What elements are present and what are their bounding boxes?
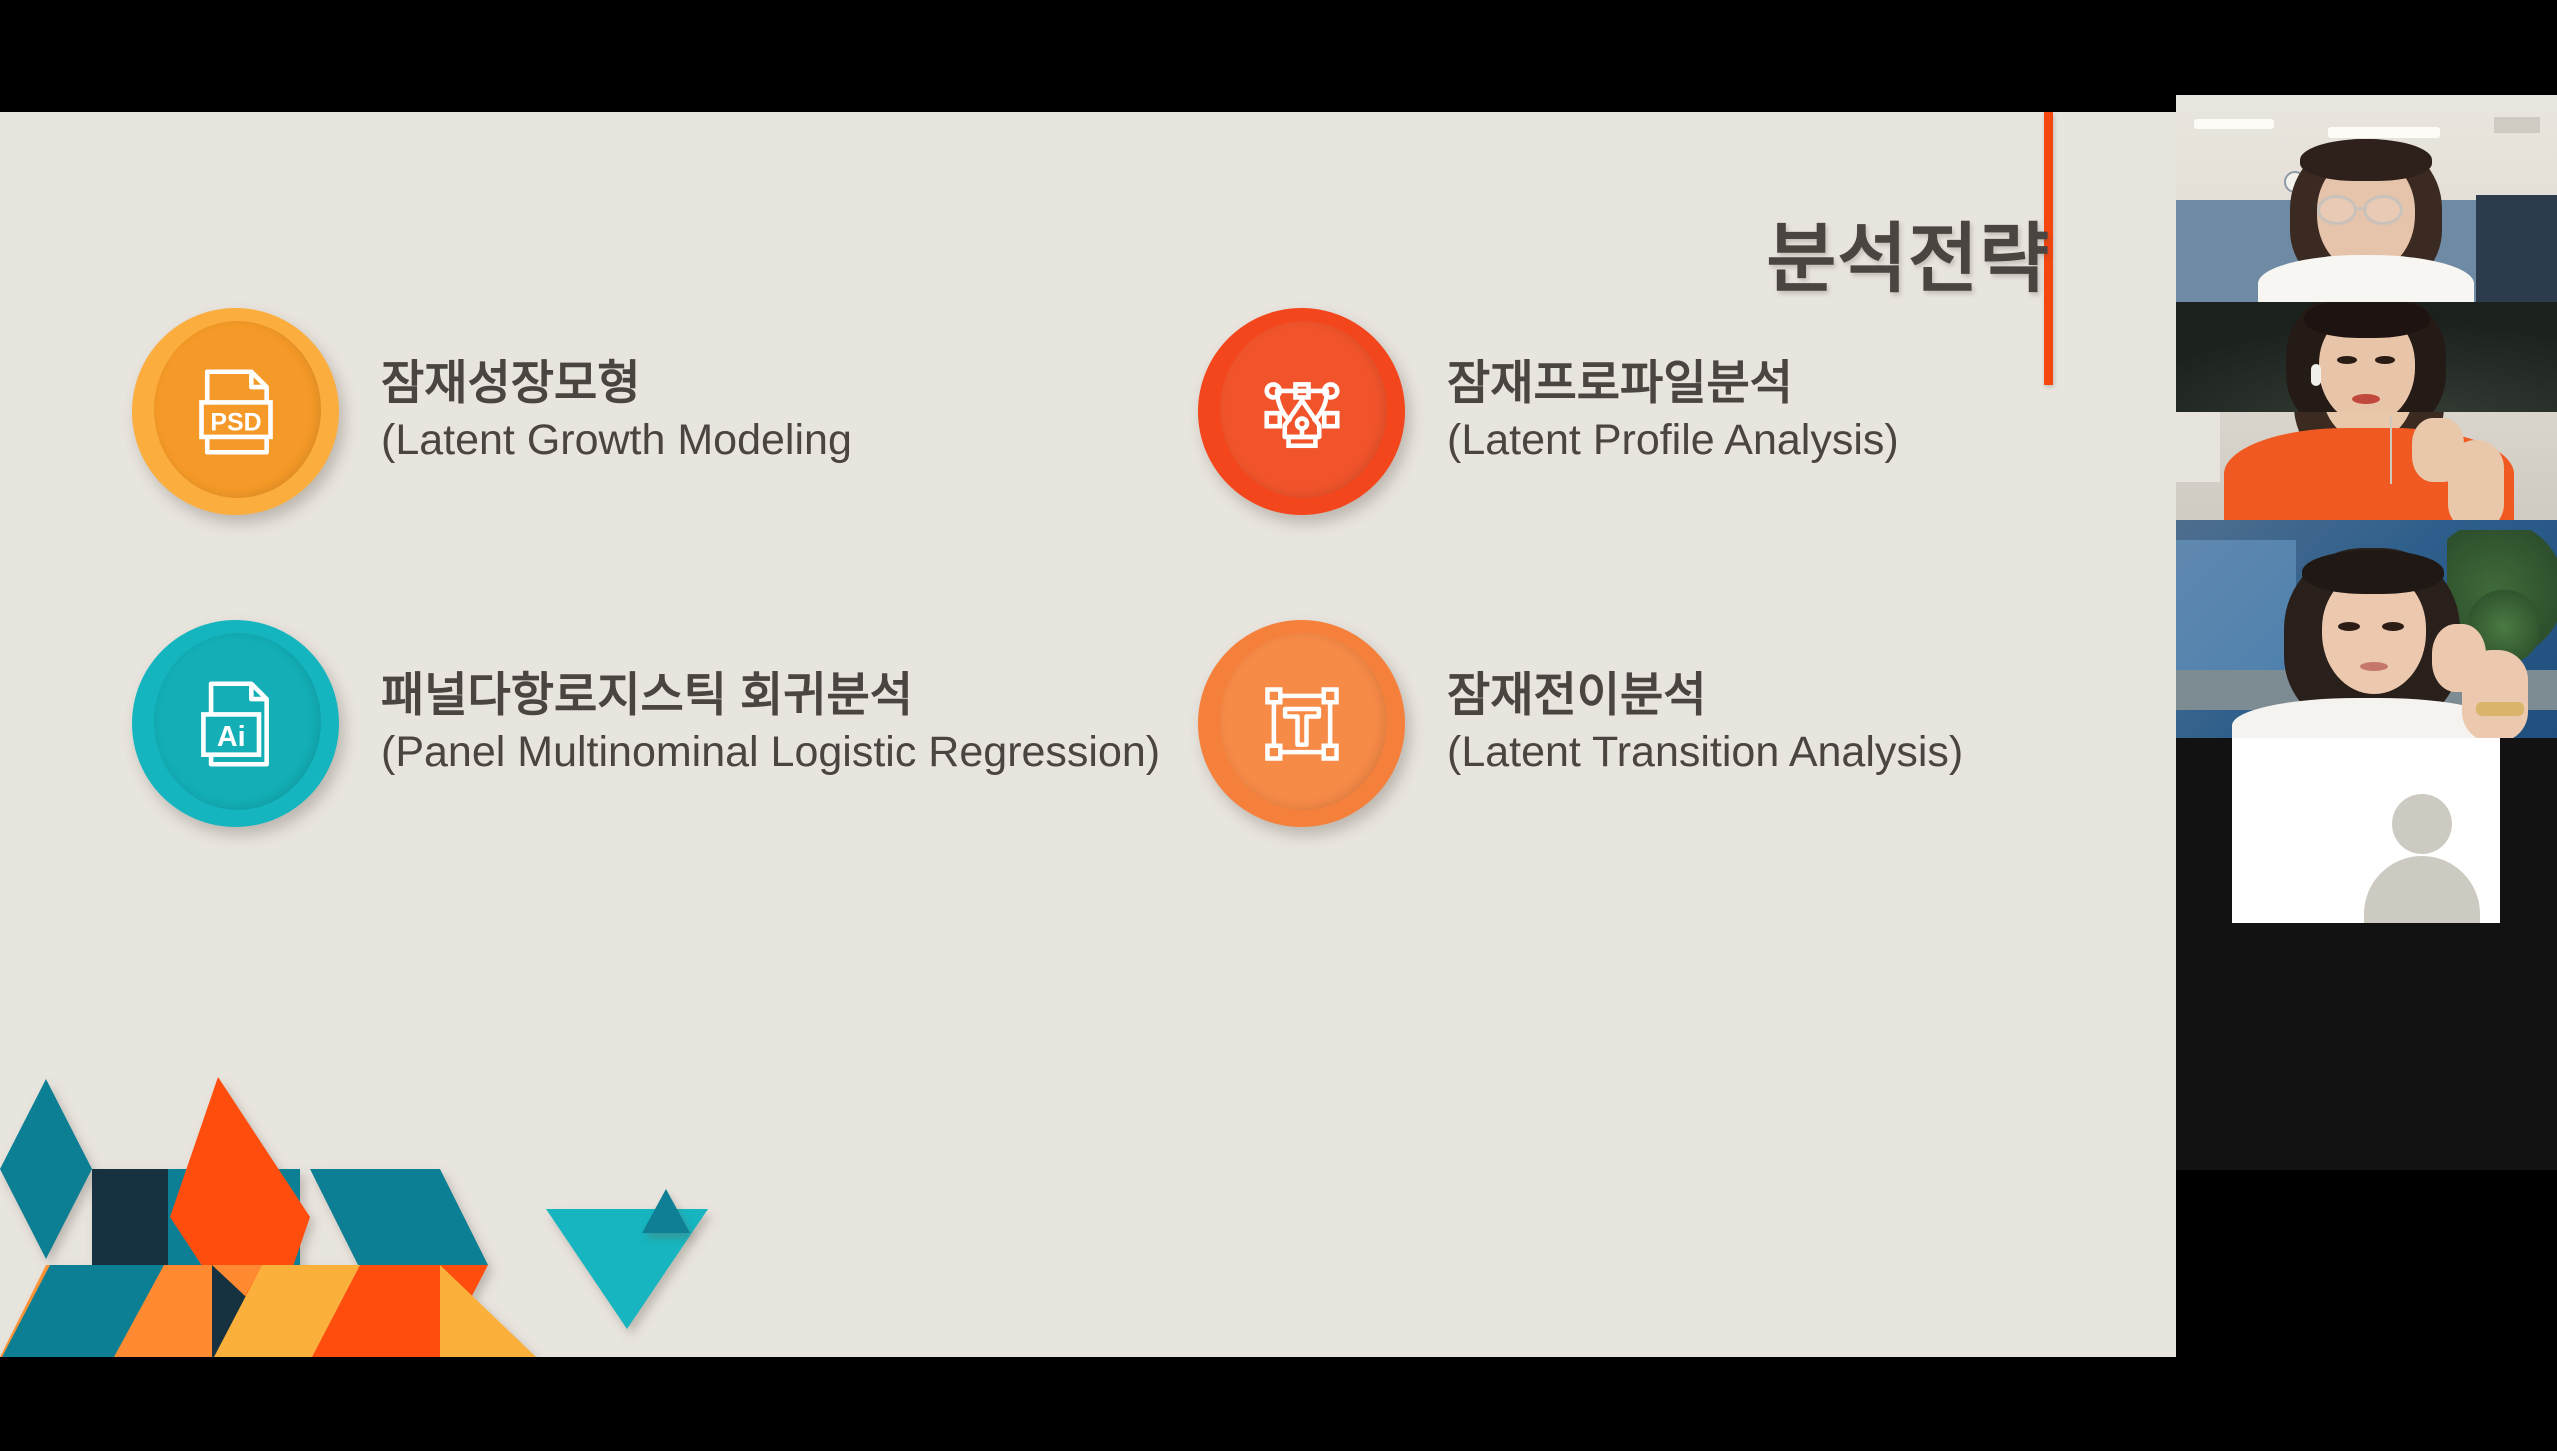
list-item-text: 잠재성장모형 (Latent Growth Modeling — [381, 355, 852, 468]
ai-file-icon: Ai — [132, 620, 339, 827]
method-name-en: (Latent Transition Analysis) — [1447, 726, 1963, 780]
avatar-body-icon — [2364, 856, 2480, 923]
method-name-ko: 잠재프로파일분석 — [1447, 355, 1899, 410]
svg-text:PSD: PSD — [210, 408, 261, 436]
method-name-ko: 잠재전이분석 — [1447, 667, 1963, 722]
list-item-text: 잠재프로파일분석 (Latent Profile Analysis) — [1447, 355, 1899, 468]
svg-text:Ai: Ai — [216, 721, 245, 753]
list-item-text: 잠재전이분석 (Latent Transition Analysis) — [1447, 667, 1963, 780]
screen-share-view: 분석전략 PSD — [0, 0, 2557, 1451]
text-tool-icon — [1198, 620, 1405, 827]
method-name-en: (Panel Multinominal Logistic Regression) — [381, 726, 1160, 780]
badge-psd: PSD — [132, 308, 339, 515]
video-tile-participant-2[interactable] — [2176, 302, 2557, 412]
list-item-latent-profile-analysis[interactable]: 잠재프로파일분석 (Latent Profile Analysis) — [1198, 308, 1899, 515]
badge-text-tool — [1198, 620, 1405, 827]
avatar-head-icon — [2392, 794, 2452, 854]
pen-tool-icon — [1198, 308, 1405, 515]
video-tile-participant-5[interactable] — [2176, 738, 2557, 923]
method-name-ko: 패널다항로지스틱 회귀분석 — [381, 667, 1160, 722]
video-participants-panel — [2176, 95, 2557, 1170]
video-tile-participant-3[interactable] — [2176, 412, 2557, 520]
method-name-en: (Latent Growth Modeling — [381, 414, 852, 468]
presentation-slide: 분석전략 PSD — [0, 112, 2176, 1357]
list-item-latent-growth-modeling[interactable]: PSD 잠재성장모형 (Latent Growth Modeling — [132, 308, 852, 515]
triangle-mosaic-decoration — [0, 1057, 760, 1357]
list-item-latent-transition-analysis[interactable]: 잠재전이분석 (Latent Transition Analysis) — [1198, 620, 1963, 827]
psd-file-icon: PSD — [132, 308, 339, 515]
list-item-panel-multinominal-logistic-regression[interactable]: Ai 패널다항로지스틱 회귀분석 (Panel Multinominal Log… — [132, 620, 1160, 827]
badge-pen-tool — [1198, 308, 1405, 515]
badge-ai: Ai — [132, 620, 339, 827]
avatar — [2232, 738, 2500, 923]
video-tile-participant-1[interactable] — [2176, 95, 2557, 302]
video-tile-participant-4[interactable] — [2176, 520, 2557, 738]
method-name-ko: 잠재성장모형 — [381, 355, 852, 410]
list-item-text: 패널다항로지스틱 회귀분석 (Panel Multinominal Logist… — [381, 667, 1160, 780]
method-name-en: (Latent Profile Analysis) — [1447, 414, 1899, 468]
